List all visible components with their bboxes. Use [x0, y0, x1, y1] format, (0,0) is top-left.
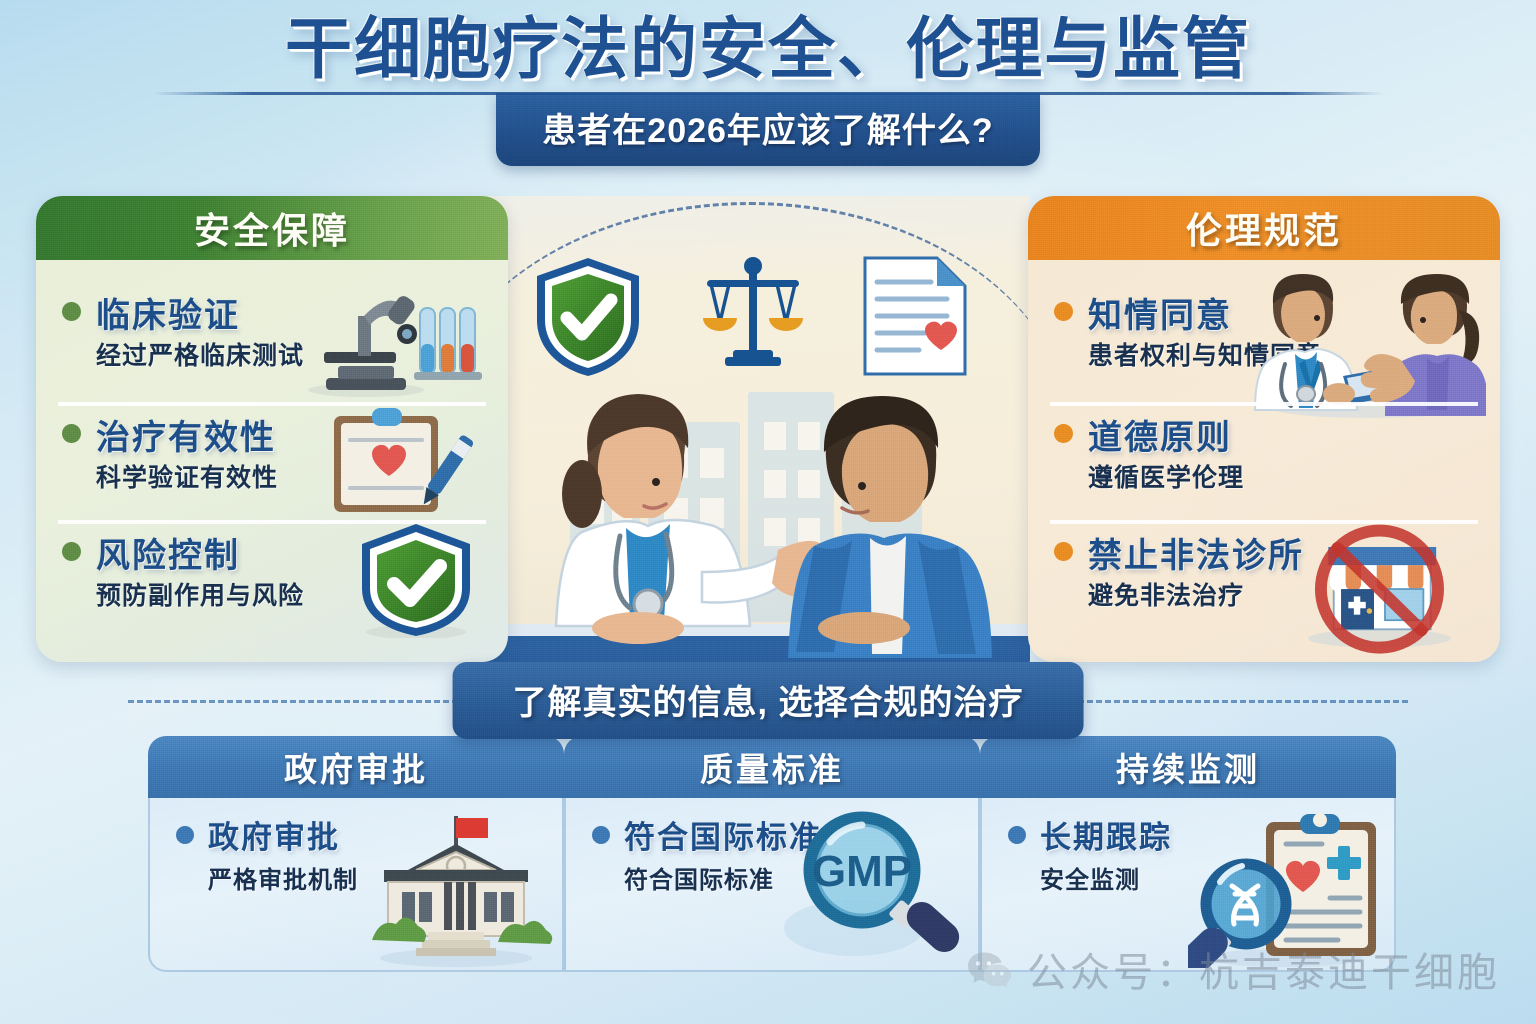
- bullet-icon: [1008, 826, 1026, 844]
- bullet-icon: [1054, 424, 1073, 443]
- wechat-icon: [967, 947, 1011, 991]
- card-title: 政府审批: [208, 812, 340, 857]
- microscope-test-tubes-icon: [294, 282, 484, 398]
- clipboard-heart-pen-icon: [294, 404, 484, 520]
- bullet-icon: [176, 826, 194, 844]
- watermark-text: 公众号：杭吉泰迪干细胞: [1027, 940, 1500, 998]
- doctor-patient-conversation-illustration: [470, 336, 1030, 666]
- list-item[interactable]: 风险控制 预防副作用与风险: [58, 520, 486, 638]
- panel-ethics: 伦理规范 知情同意 患者权利与知情同意: [1028, 196, 1500, 662]
- gmp-magnifier-icon: GMP: [772, 808, 972, 968]
- infographic-canvas: 干细胞疗法的安全、伦理与监管 患者在2026年应该了解什么?: [0, 0, 1536, 1024]
- card-body: 政府审批 严格审批机制: [148, 798, 564, 972]
- mid-banner: 了解真实的信息, 选择合规的治疗: [453, 662, 1084, 739]
- page-title: 干细胞疗法的安全、伦理与监管: [0, 14, 1536, 86]
- government-building-icon: [356, 808, 556, 968]
- banner-dashed-connector-left: [128, 700, 458, 703]
- card-subtitle: 符合国际标准: [624, 860, 774, 895]
- item-title: 道德原则: [1088, 410, 1232, 459]
- panel-ethics-body: 知情同意 患者权利与知情同意: [1028, 260, 1500, 662]
- item-subtitle: 预防副作用与风险: [96, 576, 304, 612]
- regulation-cards-row: 政府审批 政府审批 严格审批机制: [148, 736, 1396, 972]
- page-subtitle: 患者在2026年应该了解什么?: [496, 93, 1039, 166]
- panel-safety-body: 临床验证 经过严格临床测试: [36, 260, 508, 662]
- card-body: 符合国际标准 符合国际标准 GMP: [564, 798, 980, 972]
- item-subtitle: 科学验证有效性: [96, 458, 278, 494]
- item-subtitle: 避免非法治疗: [1088, 576, 1244, 612]
- gmp-label: GMP: [812, 847, 912, 896]
- bullet-icon: [62, 302, 81, 321]
- card-subtitle: 安全监测: [1040, 860, 1140, 895]
- center-illustration: [470, 196, 1030, 666]
- card-subtitle: 严格审批机制: [208, 860, 358, 895]
- card-government-approval[interactable]: 政府审批 政府审批 严格审批机制: [148, 736, 564, 972]
- item-subtitle: 经过严格临床测试: [96, 336, 304, 372]
- bullet-icon: [592, 826, 610, 844]
- item-subtitle: 遵循医学伦理: [1088, 458, 1244, 494]
- list-item[interactable]: 临床验证 经过严格临床测试: [58, 284, 486, 402]
- list-item[interactable]: 禁止非法诊所 避免非法治疗: [1050, 520, 1478, 638]
- watermark: 公众号：杭吉泰迪干细胞: [967, 940, 1500, 998]
- header-block: 干细胞疗法的安全、伦理与监管 患者在2026年应该了解什么?: [0, 14, 1536, 166]
- item-title: 临床验证: [96, 288, 240, 337]
- list-item[interactable]: 治疗有效性 科学验证有效性: [58, 402, 486, 520]
- card-continuous-monitoring[interactable]: 持续监测 长期跟踪 安全监测: [980, 736, 1396, 972]
- card-heading: 持续监测: [980, 736, 1396, 798]
- panel-safety-heading: 安全保障: [36, 196, 508, 260]
- item-title: 禁止非法诊所: [1088, 528, 1304, 577]
- card-title: 长期跟踪: [1040, 812, 1172, 857]
- bullet-icon: [1054, 302, 1073, 321]
- bullet-icon: [62, 424, 81, 443]
- list-item[interactable]: 道德原则 遵循医学伦理: [1050, 402, 1478, 520]
- list-item[interactable]: 知情同意 患者权利与知情同意: [1050, 284, 1478, 402]
- no-illegal-clinic-icon: [1277, 504, 1492, 654]
- bullet-icon: [62, 542, 81, 561]
- card-heading: 质量标准: [564, 736, 980, 798]
- panel-safety: 安全保障 临床验证 经过严格临床测试: [36, 196, 508, 662]
- title-divider: [153, 92, 1383, 95]
- doctor-patient-consult-icon: [1251, 268, 1486, 418]
- item-title: 风险控制: [96, 528, 240, 577]
- item-title: 知情同意: [1088, 288, 1232, 337]
- card-quality-standard[interactable]: 质量标准 符合国际标准 符合国际标准 GMP: [564, 736, 980, 972]
- panel-ethics-heading: 伦理规范: [1028, 196, 1500, 260]
- item-title: 治疗有效性: [96, 410, 276, 459]
- bullet-icon: [1054, 542, 1073, 561]
- shield-check-icon: [294, 522, 484, 638]
- card-heading: 政府审批: [148, 736, 564, 798]
- banner-dashed-connector-right: [1078, 700, 1408, 703]
